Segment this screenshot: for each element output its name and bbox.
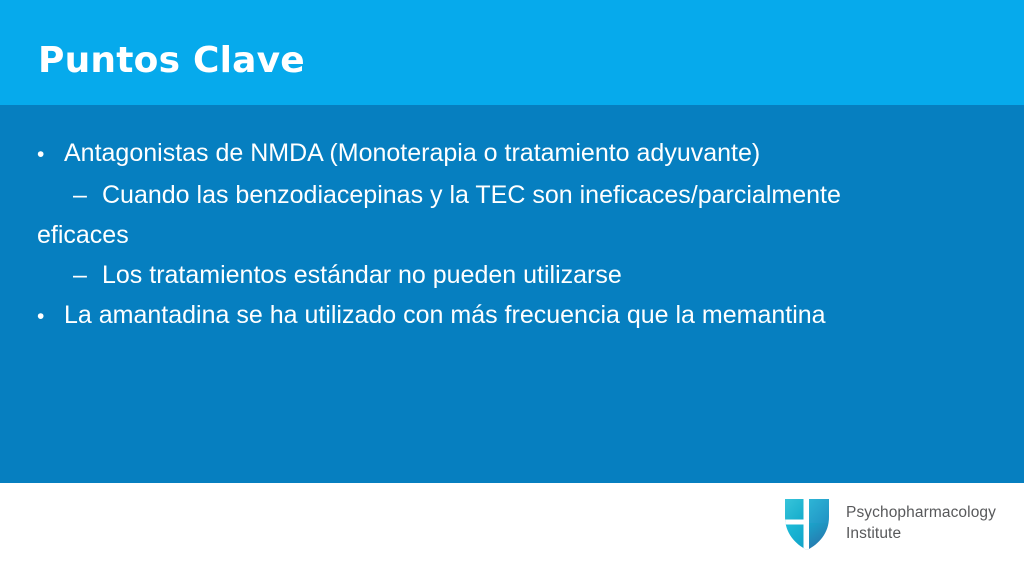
brand-name-line2: Institute [846,523,996,544]
list-item: •Antagonistas de NMDA (Monoterapia o tra… [0,133,1024,175]
slide: Puntos Clave •Antagonistas de NMDA (Mono… [0,0,1024,576]
bullet-marker: – [73,175,102,215]
page-title: Puntos Clave [38,41,305,81]
bullet-list: •Antagonistas de NMDA (Monoterapia o tra… [0,133,1024,337]
shield-icon [781,495,833,551]
list-item: •La amantadina se ha utilizado con más f… [0,295,1024,337]
list-item: –Los tratamientos estándar no pueden uti… [0,255,1024,295]
slide-header-band: Puntos Clave [0,0,1024,105]
list-item-label: eficaces [37,221,129,249]
slide-footer-band: Psychopharmacology Institute [0,483,1024,576]
list-item-continuation: eficaces [0,215,1024,255]
brand-logo: Psychopharmacology Institute [781,495,996,551]
bullet-marker: • [37,135,64,175]
slide-body-band: •Antagonistas de NMDA (Monoterapia o tra… [0,105,1024,483]
bullet-marker: • [37,297,64,337]
list-item: –Cuando las benzodiacepinas y la TEC son… [0,175,1024,215]
list-item-label: Antagonistas de NMDA (Monoterapia o trat… [64,139,760,167]
list-item-label: Cuando las benzodiacepinas y la TEC son … [102,181,841,209]
bullet-marker: – [73,255,102,295]
list-item-label: Los tratamientos estándar no pueden util… [102,261,622,289]
list-item-label: La amantadina se ha utilizado con más fr… [64,301,826,329]
brand-name: Psychopharmacology Institute [846,502,996,544]
brand-name-line1: Psychopharmacology [846,502,996,523]
